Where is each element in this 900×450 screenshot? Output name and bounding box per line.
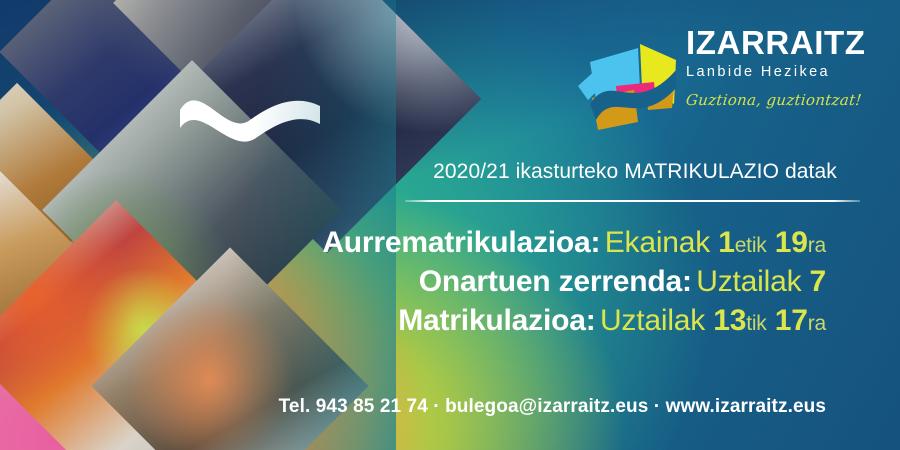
brand-tagline: Guztiona, guztiontzat! [685,91,877,109]
date-line: Aurrematrikulazioa: Ekainak 1etik 19ra [40,226,826,260]
contact-footer: Tel. 943 85 21 74 · bulegoa@izarraitz.eu… [40,396,870,418]
date-line-label: Aurrematrikulazioa: [322,226,600,259]
enrollment-dates-list: Aurrematrikulazioa: Ekainak 1etik 19ra O… [40,226,870,343]
date-suffix-end: ra [808,312,826,335]
photo-collage [0,0,396,450]
date-suffix-start: etik [735,234,767,257]
brand-name: IZARRAITZ [686,26,876,59]
contact-separator-1: · [428,396,445,417]
page-title: 2020/21 ikasturteko MATRIKULAZIO datak [405,160,865,184]
brand-subtitle: Lanbide Hezikea [686,64,876,80]
contact-phone: Tel. 943 85 21 74 [279,396,428,417]
date-line-value: Ekainak 1etik 19ra [605,226,826,259]
date-number-start: 1 [718,226,735,259]
date-line-value: Uztailak 13tik 17ra [600,304,826,337]
date-number-start: 13 [713,304,746,337]
date-line-label: Onartuen zerrenda: [419,265,692,298]
contact-separator-2: · [648,396,665,417]
date-suffix-end: ra [808,234,826,257]
date-suffix-start: tik [746,312,766,335]
date-number-end: 17 [775,304,808,337]
izarraitz-logo-mark-icon [576,26,680,136]
date-line: Onartuen zerrenda: Uztailak 7 [40,265,826,299]
title-divider [405,200,860,202]
promotional-banner: IZARRAITZ Lanbide Hezikea Guztiona, guzt… [0,0,900,450]
date-value-prefix: Ekainak [605,226,718,259]
date-line-value: Uztailak 7 [696,265,826,298]
date-number-start: 7 [810,265,827,298]
brand-wordmark: IZARRAITZ Lanbide Hezikea Guztiona, guzt… [686,26,876,109]
date-line: Matrikulazioa: Uztailak 13tik 17ra [40,304,826,338]
date-number-end: 19 [775,226,808,259]
contact-email[interactable]: bulegoa@izarraitz.eus [445,396,648,417]
date-value-prefix: Uztailak [696,265,809,298]
date-line-label: Matrikulazioa: [398,304,595,337]
brand-logo: IZARRAITZ Lanbide Hezikea Guztiona, guzt… [576,22,876,142]
contact-website[interactable]: www.izarraitz.eus [666,396,826,417]
date-value-prefix: Uztailak [600,304,713,337]
